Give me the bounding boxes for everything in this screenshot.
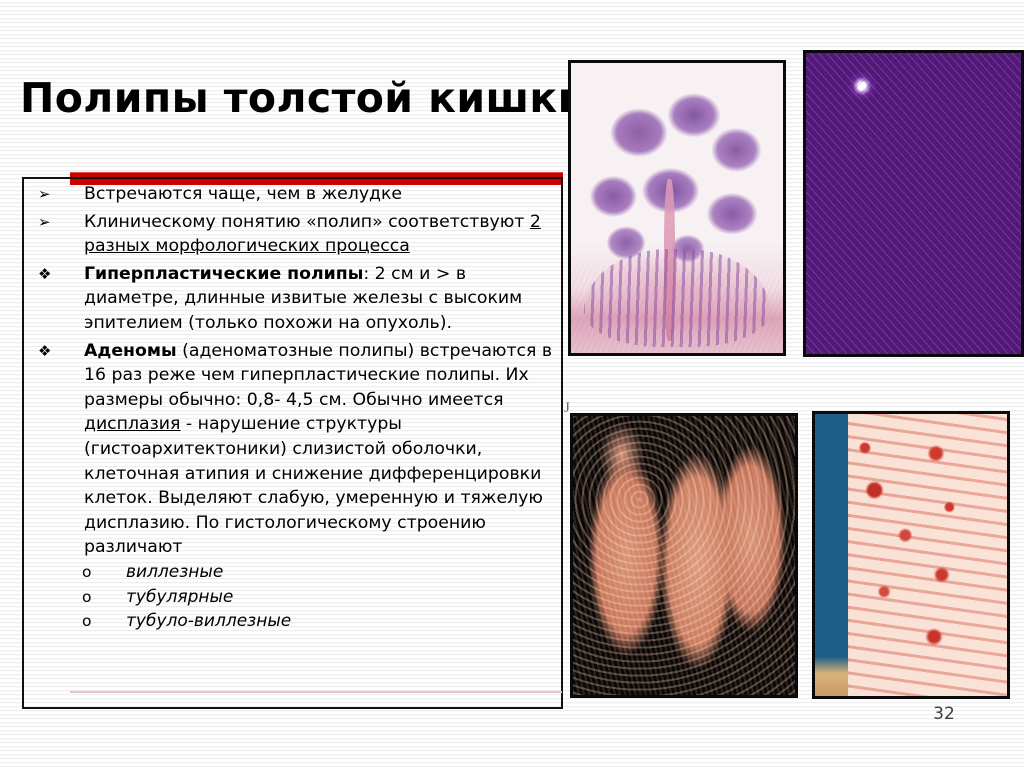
- villous-adenoma-histology-image: [568, 60, 786, 356]
- list-item-text: Аденомы (аденоматозные полипы) встречают…: [84, 339, 559, 560]
- scan-artifact-mark: J: [564, 398, 574, 418]
- diamond-bullet-icon: ❖: [26, 262, 84, 287]
- sub-list-item: o тубулярные: [26, 585, 559, 610]
- list-item-text: Гиперпластические полипы: 2 см и > в диа…: [84, 262, 559, 336]
- page-title: Полипы толстой кишки: [20, 72, 580, 124]
- list-item: ❖ Гиперпластические полипы: 2 см и > в д…: [26, 262, 559, 336]
- list-item: ➢ Клиническому понятию «полип» соответст…: [26, 210, 559, 259]
- sub-list-item-text: виллезные: [126, 560, 559, 585]
- mucosa-polyps-texture: [815, 414, 1007, 696]
- sub-list-item: o тубуло-виллезные: [26, 609, 559, 634]
- gross-polyposis-specimen-image: [570, 413, 798, 698]
- list-item-text: Клиническому понятию «полип» соответству…: [84, 210, 559, 259]
- sub-list-item-text: тубуло-виллезные: [126, 609, 559, 634]
- slide-canvas: Полипы толстой кишки ➢ Встречаются чаще,…: [0, 0, 1024, 767]
- mucosa-polyps-specimen-image: [812, 411, 1010, 699]
- circle-bullet-icon: o: [26, 560, 126, 585]
- text-bold: Гиперпластические полипы: [84, 264, 363, 284]
- text-bold: Аденомы: [84, 341, 177, 361]
- text-underlined: дисплазия: [84, 414, 180, 434]
- bullet-list: ➢ Встречаются чаще, чем в желудке ➢ Клин…: [26, 182, 559, 706]
- list-item: ➢ Встречаются чаще, чем в желудке: [26, 182, 559, 207]
- page-number: 32: [914, 704, 974, 724]
- sub-list-item-text: тубулярные: [126, 585, 559, 610]
- sub-list-item: o виллезные: [26, 560, 559, 585]
- circle-bullet-icon: o: [26, 609, 126, 634]
- circle-bullet-icon: o: [26, 585, 126, 610]
- text-mid-b: - нарушение структуры (гистоархитектоник…: [84, 414, 543, 557]
- colon-crypts-tissue-texture: [806, 53, 1021, 354]
- text-lead: Клиническому понятию «полип» соответству…: [84, 212, 530, 232]
- gross-specimen-texture: [573, 416, 795, 695]
- diamond-bullet-icon: ❖: [26, 339, 84, 364]
- list-item-text: Встречаются чаще, чем в желудке: [84, 182, 559, 207]
- arrow-bullet-icon: ➢: [26, 182, 84, 207]
- arrow-bullet-icon: ➢: [26, 210, 84, 235]
- list-item: ❖ Аденомы (аденоматозные полипы) встреча…: [26, 339, 559, 560]
- villous-adenoma-tissue-texture: [571, 63, 783, 353]
- colon-crypts-histology-image: [803, 50, 1024, 357]
